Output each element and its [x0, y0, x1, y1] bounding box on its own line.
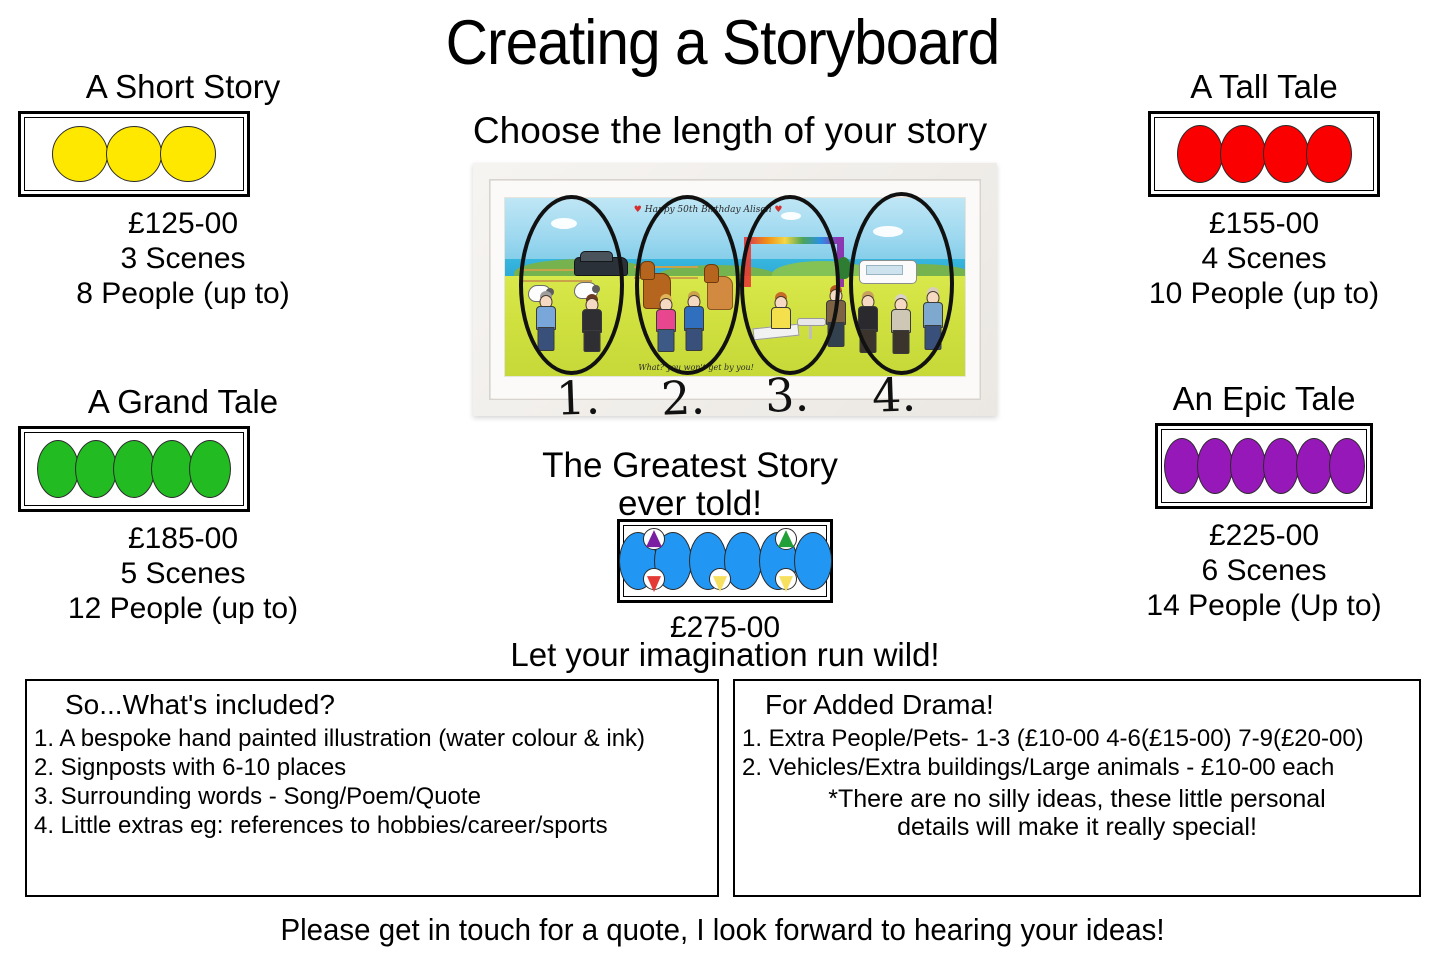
drama-item: 1. Extra People/Pets- 1-3 (£10-00 4-6(£1… — [735, 727, 1419, 751]
page-title: Creating a Storyboard — [51, 12, 1395, 75]
accent-yellow — [775, 568, 797, 590]
accent-red — [643, 568, 665, 590]
package-people: 8 People (up to) — [18, 276, 348, 311]
package-title: A Tall Tale — [1098, 70, 1430, 105]
package-price: £125-00 — [18, 206, 348, 241]
drama-item: 2. Vehicles/Extra buildings/Large animal… — [735, 756, 1419, 780]
package-price: £185-00 — [18, 521, 348, 556]
included-item: 1. A bespoke hand painted illustration (… — [27, 727, 717, 751]
scene-dot — [1329, 438, 1365, 494]
package-scenes: 3 Scenes — [18, 241, 348, 276]
scene-dot — [1230, 438, 1266, 494]
drama-box: For Added Drama! 1. Extra People/Pets- 1… — [733, 679, 1421, 897]
dot-row — [1177, 125, 1352, 183]
dot-row — [619, 532, 832, 590]
scene-dot — [52, 126, 108, 182]
included-item: 3. Surrounding words - Song/Poem/Quote — [27, 785, 717, 809]
package-swatch-tall — [1148, 111, 1380, 197]
scene-dot — [794, 532, 832, 590]
package-scenes: 4 Scenes — [1098, 241, 1430, 276]
scene-dot — [160, 126, 216, 182]
package-card-greatest[interactable]: £275-00 — [600, 519, 850, 644]
greatest-line-2: ever told! — [455, 485, 925, 523]
package-title: A Short Story — [18, 70, 348, 105]
scene-dot — [106, 126, 162, 182]
package-people: 12 People (up to) — [18, 591, 348, 626]
scene-number-4: 4. — [871, 371, 916, 419]
dot-row — [1164, 438, 1365, 494]
included-item: 4. Little extras eg: references to hobbi… — [27, 814, 717, 838]
package-swatch-epic — [1155, 423, 1373, 509]
scene-dot — [1164, 438, 1200, 494]
scene-dot — [189, 440, 231, 498]
greatest-tagline: Let your imagination run wild! — [380, 638, 1070, 671]
scene-dot — [1263, 125, 1309, 183]
scene-dot — [1296, 438, 1332, 494]
greatest-story-heading: The Greatest Story ever told! — [455, 447, 925, 523]
scene-dot — [1263, 438, 1299, 494]
footer-text: Please get in touch for a quote, I look … — [36, 912, 1409, 948]
package-card-epic[interactable]: An Epic Tale £225-00 6 Scenes 14 People … — [1098, 382, 1430, 624]
scene-dot — [75, 440, 117, 498]
package-card-short[interactable]: A Short Story £125-00 3 Scenes 8 People … — [18, 70, 348, 312]
poster-root: Creating a Storyboard A Short Story £125… — [0, 0, 1445, 963]
package-people: 10 People (up to) — [1098, 276, 1430, 311]
included-box: So...What's included? 1. A bespoke hand … — [25, 679, 719, 897]
package-people: 14 People (Up to) — [1098, 588, 1430, 623]
package-details: £185-00 5 Scenes 12 People (up to) — [18, 521, 348, 627]
scene-number-2: 2. — [660, 374, 705, 422]
choose-length-heading: Choose the length of your story — [410, 112, 1050, 149]
included-item: 2. Signposts with 6-10 places — [27, 756, 717, 780]
drama-note-line-1: *There are no silly ideas, these little … — [735, 785, 1419, 813]
scene-number-3: 3. — [764, 371, 809, 419]
accent-purple — [643, 528, 665, 550]
package-title: An Epic Tale — [1098, 382, 1430, 417]
package-scenes: 6 Scenes — [1098, 553, 1430, 588]
package-scenes: 5 Scenes — [18, 556, 348, 591]
scene-dot — [1306, 125, 1352, 183]
scene-dot — [113, 440, 155, 498]
scene-oval-1 — [519, 195, 624, 375]
accent-green — [775, 528, 797, 550]
scene-dot — [37, 440, 79, 498]
drama-note-line-2: details will make it really special! — [735, 813, 1419, 841]
package-swatch-short — [18, 111, 250, 197]
scene-dot — [1220, 125, 1266, 183]
greatest-line-1: The Greatest Story — [455, 447, 925, 485]
scene-number-1: 1. — [555, 374, 600, 422]
included-heading: So...What's included? — [27, 689, 717, 721]
package-price: £155-00 — [1098, 206, 1430, 241]
scene-dot — [151, 440, 193, 498]
package-details: £125-00 3 Scenes 8 People (up to) — [18, 206, 348, 312]
package-details: £155-00 4 Scenes 10 People (up to) — [1098, 206, 1430, 312]
package-card-tall[interactable]: A Tall Tale £155-00 4 Scenes 10 People (… — [1098, 70, 1430, 312]
accent-yellow — [709, 568, 731, 590]
dot-row — [52, 126, 216, 182]
scene-oval-4 — [849, 192, 954, 375]
package-swatch-greatest — [617, 519, 833, 603]
package-price: £225-00 — [1098, 518, 1430, 553]
scene-oval-3 — [740, 195, 840, 375]
scene-dot — [1177, 125, 1223, 183]
package-card-grand[interactable]: A Grand Tale £185-00 5 Scenes 12 People … — [18, 385, 348, 627]
scene-oval-2 — [635, 195, 740, 375]
package-details: £225-00 6 Scenes 14 People (Up to) — [1098, 518, 1430, 624]
heart-icon: ♥ — [634, 205, 642, 215]
package-title: A Grand Tale — [18, 385, 348, 420]
scene-dot — [1197, 438, 1233, 494]
dot-row — [37, 440, 231, 498]
drama-heading: For Added Drama! — [735, 689, 1419, 721]
package-swatch-grand — [18, 426, 250, 512]
